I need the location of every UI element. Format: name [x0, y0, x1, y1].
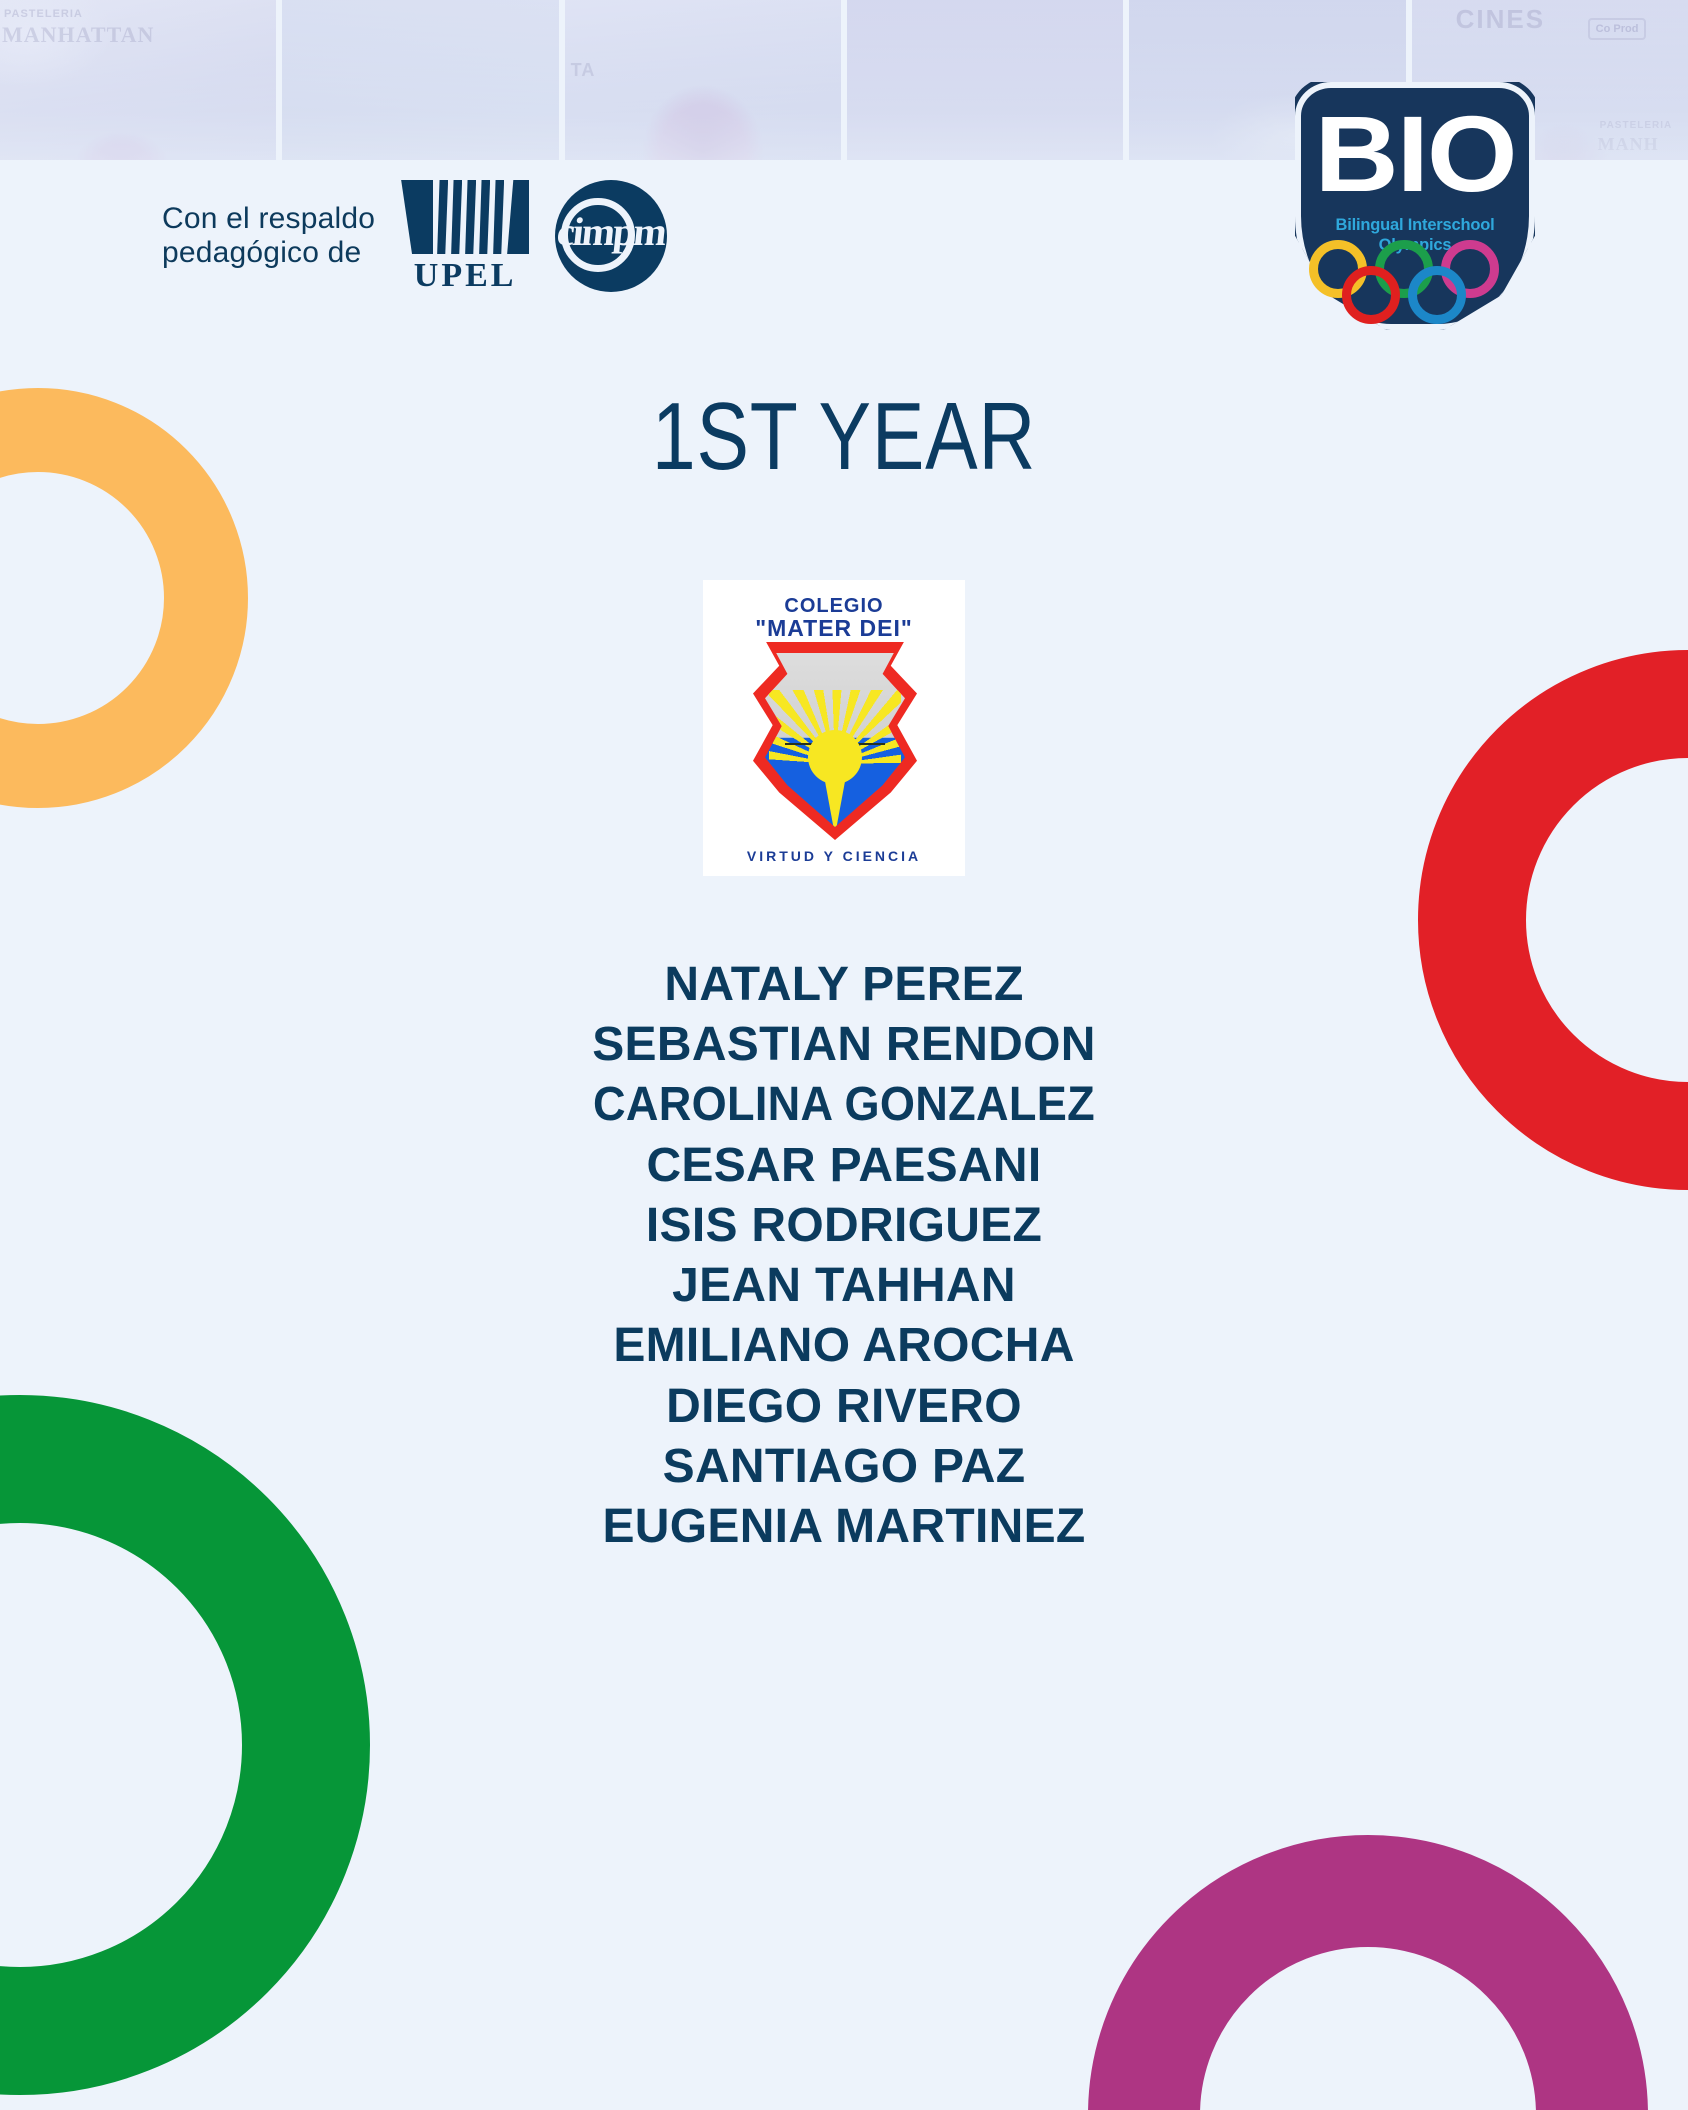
upel-bar-4 — [465, 180, 476, 254]
olympic-ring-blue-icon — [1408, 266, 1466, 324]
collage-panel-2 — [282, 0, 558, 160]
supporters-caption-line-1: Con el respaldo — [162, 202, 375, 236]
collage-panel-1: PASTELERIA MANHATTAN — [0, 0, 276, 160]
bio-wordmark: BIO — [1285, 100, 1544, 208]
collage-panel-3: TA — [565, 0, 841, 160]
crest-heading-line-1: COLEGIO — [703, 596, 965, 617]
ghost-label-pasteleria-2: PASTELERIA — [1600, 120, 1673, 131]
collage-panel-4 — [847, 0, 1123, 160]
ghost-label-cines: CINES — [1456, 4, 1545, 35]
student-name: JEAN TAHHAN — [0, 1256, 1688, 1316]
crest-shield-outline — [753, 642, 917, 840]
crest-motto: VIRTUD Y CIENCIA — [703, 848, 965, 864]
ghost-label-coprod: Co Prod — [1588, 18, 1647, 40]
crest-heading: COLEGIO "MATER DEI" — [703, 596, 965, 641]
olympic-ring-red-icon — [1342, 266, 1400, 324]
ghost-label-manh: MANH — [1598, 134, 1659, 155]
student-name: NATALY PEREZ — [0, 955, 1688, 1015]
school-crest: COLEGIO "MATER DEI" VIRTUD Y CIENCIA — [703, 580, 965, 876]
supporters-caption: Con el respaldo pedagógico de — [162, 202, 375, 270]
supporters-caption-line-2: pedagógico de — [162, 236, 375, 270]
page-title: 1ST YEAR — [152, 382, 1536, 492]
upel-logo-mark — [401, 180, 529, 254]
crest-sun-icon — [808, 730, 862, 784]
decorative-ring-magenta — [1088, 1835, 1648, 2110]
upel-bar-6 — [493, 180, 504, 254]
supporters-block: Con el respaldo pedagógico de UPEL cimpm — [162, 180, 667, 292]
bio-logo: BIO Bilingual Interschool Olympics — [1295, 82, 1535, 330]
student-name: ISIS RODRIGUEZ — [0, 1196, 1688, 1256]
ghost-label-manhattan-1: MANHATTAN — [2, 22, 154, 48]
upel-bar-5 — [479, 180, 490, 254]
poster-canvas: PASTELERIA MANHATTAN TA CINES Co Prod PA… — [0, 0, 1688, 2110]
student-name: DIEGO RIVERO — [0, 1377, 1688, 1437]
crest-heading-line-2: "MATER DEI" — [703, 617, 965, 641]
upel-logo-label: UPEL — [401, 257, 529, 295]
upel-bar-2 — [437, 180, 448, 254]
student-name: EUGENIA MARTINEZ — [0, 1497, 1688, 1557]
student-name-list: NATALY PEREZ SEBASTIAN RENDON CAROLINA G… — [0, 955, 1688, 1557]
student-name: CAROLINA GONZALEZ — [51, 1075, 1638, 1135]
student-name: EMILIANO AROCHA — [0, 1316, 1688, 1376]
crest-shield-field — [765, 653, 905, 827]
upel-logo: UPEL — [401, 180, 529, 292]
student-name: SANTIAGO PAZ — [0, 1437, 1688, 1497]
upel-bar-1 — [401, 180, 433, 254]
cimpm-logo-label: cimpm — [553, 208, 670, 255]
cimpm-logo: cimpm — [555, 180, 667, 292]
upel-bar-3 — [451, 180, 462, 254]
student-name: SEBASTIAN RENDON — [0, 1015, 1688, 1075]
ghost-label-pasteleria-1: PASTELERIA — [4, 8, 83, 20]
upel-bar-7 — [507, 180, 529, 254]
ghost-label-ta: TA — [571, 60, 596, 81]
olympic-rings-icon — [1305, 240, 1525, 318]
student-name: CESAR PAESANI — [0, 1136, 1688, 1196]
